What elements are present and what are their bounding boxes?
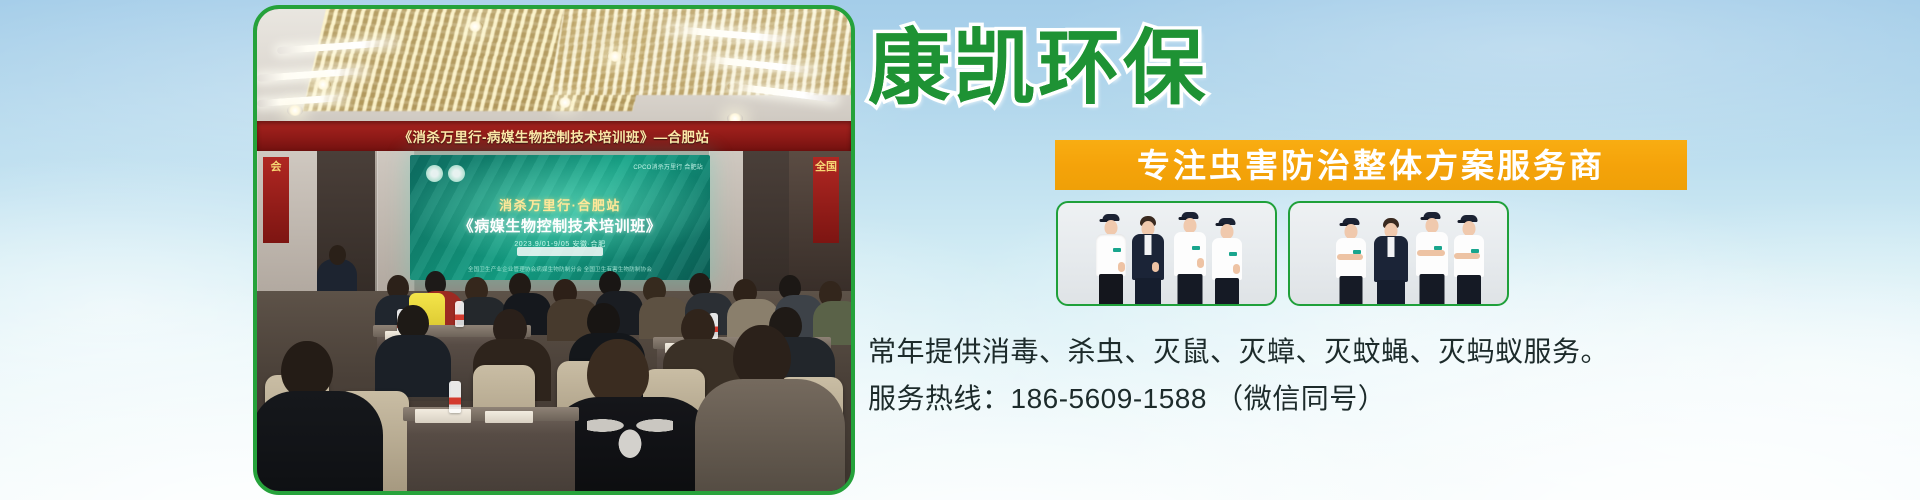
water-bottle [455, 301, 464, 327]
ceiling-down-light [607, 51, 623, 62]
notebook [485, 411, 533, 423]
team-member [1452, 206, 1486, 304]
services-text: 常年提供消毒、杀虫、灭鼠、灭蟑、灭蚊蝇、灭蚂蚁服务。 [868, 330, 1609, 370]
screen-title-line2: 《病媒生物控制技术培训班》 [410, 215, 710, 236]
ceiling-down-light [315, 79, 331, 90]
screen-corner-mark: CPCO消杀万里行 合肥站 [633, 164, 703, 173]
side-banner-right: 全国 [813, 157, 839, 243]
screen-title-line1: 消杀万里行·合肥站 [410, 195, 710, 214]
team-member [1172, 204, 1208, 304]
foreground-torso [695, 379, 845, 495]
screen-logo-2 [448, 165, 465, 182]
chandelier-crystal-panel-2 [549, 5, 855, 95]
team-member [1094, 206, 1128, 304]
ceiling-down-light [557, 97, 573, 108]
foreground-head [587, 339, 649, 405]
team-member [1414, 204, 1450, 304]
brand-title-fill: 康凯环保 [868, 28, 1208, 110]
slogan-banner: 专注虫害防治整体方案服务商 [1055, 140, 1687, 190]
side-banner-left: 会 [263, 157, 289, 243]
foreground-torso [253, 391, 383, 495]
team-member [1372, 204, 1410, 304]
conference-photo: 《消杀万里行-病媒生物控制技术培训班》—合肥站 会 全国 CPCO消杀万里行 合… [253, 5, 855, 495]
notebook [415, 409, 471, 423]
team-photo-2 [1288, 201, 1509, 306]
water-bottle [449, 381, 461, 413]
team-member [1130, 204, 1166, 304]
wall-panel [709, 151, 745, 301]
screen-white-plate [517, 247, 603, 256]
speaker-head [329, 245, 346, 265]
screen-logo-1 [426, 165, 443, 182]
team-member [1334, 208, 1368, 304]
hotline-text: 服务热线：186-5609-1588 （微信同号） [868, 377, 1386, 417]
slogan-text: 专注虫害防治整体方案服务商 [1137, 149, 1605, 182]
foreground-head [281, 341, 333, 397]
audience-torso [375, 335, 451, 397]
right-content-panel: 康凯环保 康凯环保 专注虫害防治整体方案服务商 [868, 0, 1920, 500]
ceiling-down-light [287, 105, 303, 116]
team-member [1210, 208, 1244, 304]
ceiling-down-light [467, 21, 483, 32]
stage-led-screen: CPCO消杀万里行 合肥站 消杀万里行·合肥站 《病媒生物控制技术培训班》 20… [410, 155, 710, 280]
promo-banner: 《消杀万里行-病媒生物控制技术培训班》—合肥站 会 全国 CPCO消杀万里行 合… [0, 0, 1920, 500]
foreground-head [733, 325, 791, 387]
screen-organizer-line: 全国卫生产业企业管理协会病媒生物防制分会 全国卫生有害生物防制协会 [410, 266, 710, 274]
bull-graphic [587, 413, 673, 461]
team-photo-1 [1056, 201, 1277, 306]
audience-head [397, 305, 429, 339]
overhead-banner-text: 《消杀万里行-病媒生物控制技术培训班》—合肥站 [257, 121, 851, 151]
foreground-table [407, 413, 575, 495]
